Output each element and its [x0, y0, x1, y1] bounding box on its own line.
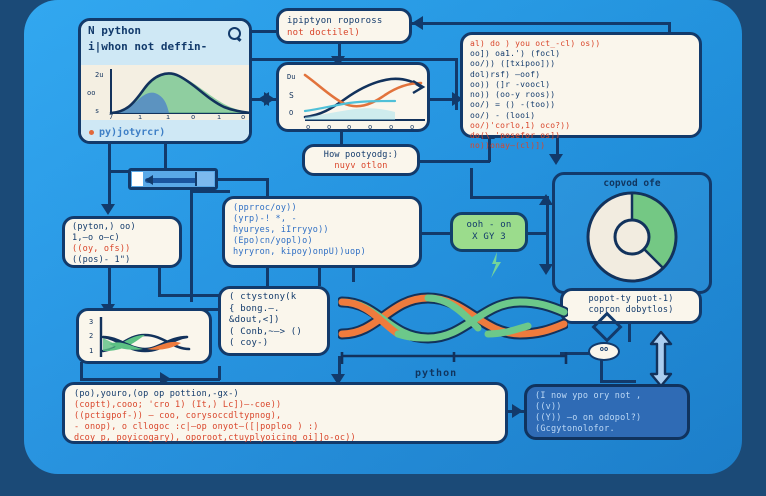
- multi-line-plot: Du S O ooo ooo: [276, 62, 430, 132]
- output-line: ((v)): [535, 402, 679, 413]
- report-detail-card[interactable]: popot-ty puot-1) copron dobytlos): [560, 288, 702, 324]
- svg-text:ı: ı: [217, 113, 221, 120]
- search-input[interactable]: N python: [88, 24, 242, 37]
- svg-text:o: o: [389, 123, 393, 131]
- connector: [252, 30, 276, 33]
- summary-line: - onop), o cllogoc :c|—op onyot—([|poplo…: [74, 422, 496, 433]
- svg-text:ı: ı: [166, 113, 170, 120]
- slider-handle-right[interactable]: [195, 172, 214, 186]
- note-line: How pootyodg:): [312, 150, 410, 161]
- code-line: oo]) oa1.') (focl): [470, 49, 692, 59]
- detail-line: popot-ty puot-1): [570, 294, 692, 305]
- arrow-head: [539, 264, 553, 275]
- svg-text:o: o: [368, 123, 372, 131]
- param-line: ((pos)- 1"): [72, 255, 172, 266]
- search-card-footer-label: py)jotyrcr): [99, 127, 165, 138]
- arrow-head: [258, 92, 269, 106]
- status-dot-icon: [89, 130, 94, 135]
- arrow-head: [512, 404, 523, 418]
- connector: [470, 168, 473, 196]
- connector: [412, 22, 670, 25]
- config-line: { bong.—.: [229, 304, 319, 316]
- oval-badge[interactable]: oo: [588, 342, 620, 361]
- code-line: oo/) - (looi): [470, 111, 692, 121]
- search-suggestion[interactable]: i|whon not deffin-: [88, 40, 242, 53]
- connector: [190, 190, 230, 193]
- connector: [108, 170, 111, 208]
- snippet-line: hyuryes, iIrryyo)): [233, 225, 411, 236]
- search-bar[interactable]: N python i|whon not deffin-: [81, 21, 249, 65]
- svg-text:7: 7: [109, 113, 113, 120]
- output-line: (I now ypo ory not ,: [535, 391, 679, 402]
- connector: [164, 144, 167, 168]
- svg-text:o: o: [327, 123, 331, 131]
- search-card-footer: py)jotyrcr): [81, 120, 249, 144]
- code-line: no))onay—(cl)]): [470, 141, 692, 151]
- arrow-head: [549, 154, 563, 165]
- dark-output-card[interactable]: (I now ypo ory not , ((v)) ((Y)) —o on o…: [524, 384, 690, 440]
- detail-line: copron dobytlos): [570, 305, 692, 316]
- code-line: oo)) (]r -voocl): [470, 80, 692, 90]
- pyplot-snippet-card[interactable]: (pprroc/oy)) (yrp)-! *, - hyuryes, iIrry…: [222, 196, 422, 268]
- code-line: al) do ) you oct_-cl) os)): [470, 39, 692, 49]
- search-icon[interactable]: [228, 27, 241, 40]
- svg-text:o: o: [191, 113, 195, 120]
- svg-text:O: O: [289, 109, 293, 117]
- connector: [218, 366, 221, 380]
- snippet-line: (Epo)cn/yopl)o): [233, 236, 411, 247]
- code-line: no)) (oo-y roos)): [470, 90, 692, 100]
- connector: [108, 170, 130, 173]
- svg-text:o: o: [347, 123, 351, 131]
- note-line: nuyv otlon: [312, 161, 410, 172]
- svg-text:o: o: [410, 123, 414, 131]
- output-line: (Gcgytonolofor.: [535, 424, 679, 435]
- svg-text:Du: Du: [287, 73, 295, 81]
- arrow-head: [101, 204, 115, 215]
- python-params-card[interactable]: (pyton,) oo) 1,—o o—c) ((oy, ofs)) ((pos…: [62, 216, 182, 268]
- note-line: not doctilel): [287, 28, 401, 40]
- config-line: ( Conb,~—> (): [229, 327, 319, 339]
- braid-ribbon: [338, 282, 568, 354]
- param-line: (pyton,) oo): [72, 222, 172, 233]
- code-line: oo/)'corlo,1) oco?)): [470, 121, 692, 131]
- snippet-line: hyryron, kipoy)onpU))uop): [233, 247, 411, 258]
- connector: [628, 324, 631, 342]
- summary-line: ((pctigpof-)) — coo, corysoccdltypnog),: [74, 411, 496, 422]
- code-line: dol)rsf) —oof): [470, 70, 692, 80]
- connector: [528, 232, 548, 235]
- donut-chart-card: copvod ofe: [552, 172, 712, 294]
- connector: [108, 144, 111, 170]
- svg-text:o: o: [306, 123, 310, 131]
- summary-line: dcoy p, poyicogary), oporoot,ctuyplyoici…: [74, 433, 496, 444]
- note-line: ipiptyon ropoross: [287, 16, 401, 28]
- how-plot-note-card[interactable]: How pootyodg:) nuyv otlon: [302, 144, 420, 176]
- snippet-line: (pprroc/oy)): [233, 203, 411, 214]
- spark-icon: [489, 252, 503, 278]
- operator-line: X GY 3: [459, 232, 519, 244]
- svg-text:2u: 2u: [95, 71, 103, 79]
- operator-line: ooh - on: [459, 220, 519, 232]
- config-line: ( ctystony(k: [229, 292, 319, 304]
- connector: [352, 268, 355, 282]
- bottom-summary-card[interactable]: (po),youro,(op op pottion,-gx-) (coptt),…: [62, 382, 508, 444]
- config-line: ( coy-): [229, 338, 319, 350]
- code-line: do(\ 'posefor os]): [470, 131, 692, 141]
- connector: [80, 378, 220, 381]
- connector: [340, 132, 343, 144]
- svg-text:o: o: [241, 113, 245, 120]
- connector: [216, 178, 266, 181]
- braid-measure-axis: [338, 352, 570, 368]
- green-operator-node[interactable]: ooh - on X GY 3: [450, 212, 528, 252]
- connector: [546, 196, 549, 270]
- connector: [158, 268, 161, 294]
- param-line: 1,—o o—c): [72, 233, 172, 244]
- svg-text:S: S: [289, 91, 294, 100]
- code-listing-card[interactable]: al) do ) you oct_-cl) os)) oo]) oa1.') (…: [460, 32, 702, 138]
- diagram-stage: N python i|whon not deffin- 2u oo s 7ıı …: [0, 0, 766, 496]
- lens-plot: 3 2 1: [76, 308, 212, 364]
- braid-axis-label: python: [415, 368, 457, 379]
- connector: [470, 196, 548, 199]
- param-line: ((oy, ofs)): [72, 244, 172, 255]
- top-note-card[interactable]: ipiptyon ropoross not doctilel): [276, 8, 412, 44]
- svg-text:3: 3: [89, 318, 93, 326]
- python-search-card[interactable]: N python i|whon not deffin- 2u oo s 7ıı …: [78, 18, 252, 144]
- range-slider[interactable]: [128, 168, 218, 190]
- connector: [422, 232, 450, 235]
- resize-double-arrow-icon[interactable]: [648, 330, 674, 388]
- arrow-head: [412, 16, 423, 30]
- code-line: oo/)) ([txipoo])): [470, 59, 692, 69]
- svg-text:2: 2: [89, 332, 93, 340]
- svg-text:s: s: [95, 107, 99, 115]
- donut-chart: [555, 189, 709, 287]
- connector: [190, 190, 193, 302]
- code-line: oo/) = () -(too)): [470, 100, 692, 110]
- svg-text:ı: ı: [138, 113, 142, 120]
- config-list-card[interactable]: ( ctystony(k { bong.—. &dout,<]) ( Conb,…: [218, 286, 330, 356]
- connector: [252, 58, 457, 61]
- output-line: ((Y)) —o on odopol?): [535, 413, 679, 424]
- summary-line: (po),youro,(op op pottion,-gx-): [74, 389, 496, 400]
- donut-chart-title: copvod ofe: [555, 175, 709, 189]
- connector: [600, 380, 636, 383]
- snippet-line: (yrp)-! *, -: [233, 214, 411, 225]
- slider-cursor-icon: [145, 175, 153, 185]
- slider-handle-left[interactable]: [132, 172, 143, 186]
- connector: [318, 268, 321, 286]
- svg-text:1: 1: [89, 347, 93, 355]
- bell-curve-plot: 2u oo s 7ıı oıo: [81, 65, 249, 120]
- config-line: &dout,<]): [229, 315, 319, 327]
- svg-text:oo: oo: [87, 89, 95, 97]
- summary-line: (coptt),cooo; 'cro 1) (It,) Lc])—-coe)): [74, 400, 496, 411]
- connector: [420, 160, 490, 163]
